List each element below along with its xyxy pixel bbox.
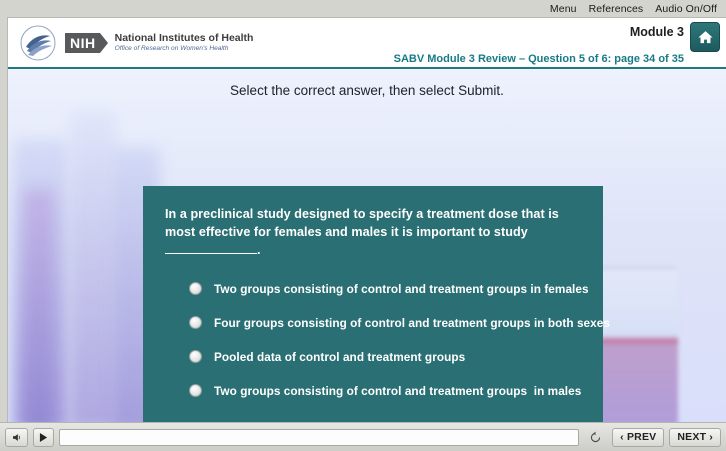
option-3[interactable]: Pooled data of control and treatment gro…: [189, 350, 585, 364]
radio-icon[interactable]: [189, 282, 202, 295]
option-label: Two groups consisting of control and tre…: [214, 384, 581, 398]
breadcrumb: SABV Module 3 Review – Question 5 of 6: …: [394, 53, 720, 65]
nih-logo-subtitle: Office of Research on Women's Health: [115, 45, 254, 53]
question-text-end: .: [257, 243, 261, 257]
answer-blank: [165, 253, 257, 254]
course-player: Menu References Audio On/Off NIH: [0, 0, 726, 451]
playbar: ‹ PREV NEXT ›: [0, 422, 726, 451]
radio-icon[interactable]: [189, 316, 202, 329]
radio-icon[interactable]: [189, 350, 202, 363]
slide-stage: Select the correct answer, then select S…: [8, 69, 726, 422]
play-icon[interactable]: [33, 428, 54, 447]
nih-logo: NIH National Institutes of Health Office…: [16, 24, 253, 62]
instruction-text: Select the correct answer, then select S…: [8, 69, 726, 98]
volume-icon[interactable]: [5, 428, 28, 447]
option-4[interactable]: Two groups consisting of control and tre…: [189, 384, 585, 398]
radio-icon[interactable]: [189, 384, 202, 397]
progress-track[interactable]: [59, 429, 579, 446]
top-menubar: Menu References Audio On/Off: [0, 0, 726, 17]
module-title: Module 3: [630, 22, 684, 39]
hhs-seal-icon: [16, 24, 62, 62]
slide-header: NIH National Institutes of Health Office…: [8, 18, 726, 65]
option-2[interactable]: Four groups consisting of control and tr…: [189, 316, 585, 330]
menu-item-menu[interactable]: Menu: [550, 3, 577, 15]
option-1[interactable]: Two groups consisting of control and tre…: [189, 282, 585, 296]
nih-arrow-icon: [100, 33, 108, 53]
prev-button[interactable]: ‹ PREV: [612, 428, 664, 447]
header-right: Module 3 SABV Module 3 Review – Question…: [394, 22, 720, 65]
nih-badge: NIH: [65, 33, 100, 53]
option-label: Pooled data of control and treatment gro…: [214, 350, 465, 364]
question-text: In a preclinical study designed to speci…: [165, 206, 585, 260]
menu-item-audio-on-off[interactable]: Audio On/Off: [655, 3, 717, 15]
question-text-main: In a preclinical study designed to speci…: [165, 207, 559, 239]
question-panel: In a preclinical study designed to speci…: [143, 186, 603, 422]
nih-logo-title: National Institutes of Health: [115, 33, 254, 45]
menu-item-references[interactable]: References: [589, 3, 644, 15]
slide-card: NIH National Institutes of Health Office…: [7, 17, 726, 422]
replay-icon[interactable]: [584, 428, 607, 447]
option-label: Two groups consisting of control and tre…: [214, 282, 589, 296]
next-button[interactable]: NEXT ›: [669, 428, 721, 447]
option-label: Four groups consisting of control and tr…: [214, 316, 610, 330]
beaker-image: [592, 267, 678, 422]
home-icon[interactable]: [690, 22, 720, 52]
answer-options: Two groups consisting of control and tre…: [165, 282, 585, 398]
